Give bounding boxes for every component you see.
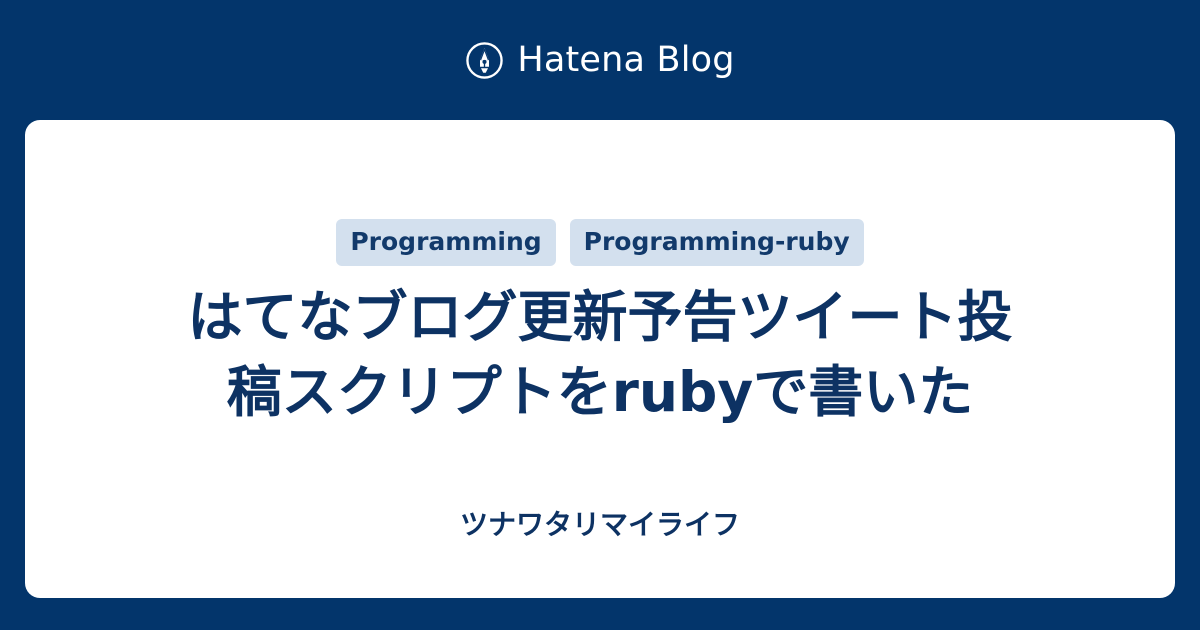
tag-programming[interactable]: Programming: [336, 219, 555, 266]
tag-list: Programming Programming-ruby: [25, 219, 1175, 266]
entry-title-line-2: 稿スクリプトをrubyで書いた: [65, 355, 1135, 430]
entry-title-line-1: はてなブログ更新予告ツイート投: [65, 280, 1135, 355]
hatena-pen-nib-icon: [465, 41, 504, 80]
brand-name: Hatena Blog: [517, 43, 734, 78]
blog-name[interactable]: ツナワタリマイライフ: [25, 508, 1175, 542]
entry-card: Programming Programming-ruby はてなブログ更新予告ツ…: [25, 120, 1175, 598]
tag-programming-ruby[interactable]: Programming-ruby: [570, 219, 864, 266]
brand-header: Hatena Blog: [0, 0, 1200, 120]
entry-title[interactable]: はてなブログ更新予告ツイート投 稿スクリプトをrubyで書いた: [65, 280, 1135, 430]
hatena-blog-og-card: Hatena Blog Programming Programming-ruby…: [0, 0, 1200, 630]
